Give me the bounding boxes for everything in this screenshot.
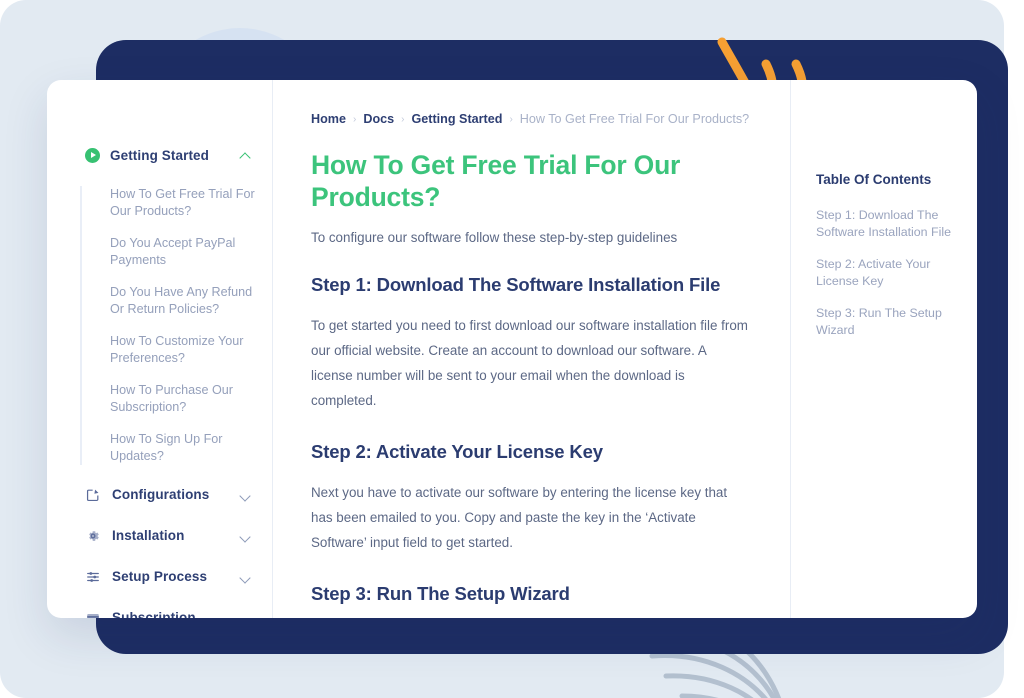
sidebar-item-getting-started[interactable]: Getting Started xyxy=(47,142,272,168)
sidebar-subitem[interactable]: How To Purchase Our Subscription? xyxy=(110,382,272,416)
sidebar-item-setup-process[interactable]: Setup Process xyxy=(47,563,272,590)
toc-item-step-1[interactable]: Step 1: Download The Software Installati… xyxy=(816,207,959,241)
sidebar-subitem[interactable]: Do You Accept PayPal Payments xyxy=(110,235,272,269)
section-heading-step-3: Step 3: Run The Setup Wizard xyxy=(311,583,750,605)
toc-item-step-3[interactable]: Step 3: Run The Setup Wizard xyxy=(816,305,959,339)
section-paragraph: Next you have to activate our software b… xyxy=(311,480,750,555)
sidebar-item-label: Setup Process xyxy=(112,569,228,584)
chevron-down-icon[interactable] xyxy=(240,489,252,501)
chevron-down-icon[interactable] xyxy=(240,530,252,542)
sidebar-item-subscription[interactable]: Subscription xyxy=(47,604,272,618)
sidebar-subitem[interactable]: How To Sign Up For Updates? xyxy=(110,431,272,465)
sidebar-subitem[interactable]: How To Get Free Trial For Our Products? xyxy=(110,186,272,220)
article-intro: To configure our software follow these s… xyxy=(311,230,750,245)
breadcrumb-item-docs[interactable]: Docs xyxy=(363,112,394,126)
sidebar-item-list: Configurations Installation xyxy=(47,481,272,618)
sliders-icon xyxy=(85,569,100,584)
article-content: Home › Docs › Getting Started › How To G… xyxy=(273,80,791,618)
chevron-up-icon[interactable] xyxy=(240,149,252,161)
breadcrumb-separator-icon: › xyxy=(401,114,404,125)
toc-title: Table Of Contents xyxy=(816,172,959,187)
breadcrumb: Home › Docs › Getting Started › How To G… xyxy=(311,112,750,126)
breadcrumb-item-getting-started[interactable]: Getting Started xyxy=(411,112,502,126)
sidebar-item-label: Subscription xyxy=(112,610,228,618)
toc-item-step-2[interactable]: Step 2: Activate Your License Key xyxy=(816,256,959,290)
sidebar-subitem[interactable]: How To Customize Your Preferences? xyxy=(110,333,272,367)
section-heading-step-2: Step 2: Activate Your License Key xyxy=(311,441,750,463)
toc-list: Step 1: Download The Software Installati… xyxy=(816,207,959,339)
sidebar-item-installation[interactable]: Installation xyxy=(47,522,272,549)
sidebar-group-label: Getting Started xyxy=(110,148,230,163)
gear-icon xyxy=(85,528,100,543)
sidebar-subitem[interactable]: Do You Have Any Refund Or Return Policie… xyxy=(110,284,272,318)
breadcrumb-item-home[interactable]: Home xyxy=(311,112,346,126)
breadcrumb-item-current: How To Get Free Trial For Our Products? xyxy=(520,112,749,126)
section-heading-step-1: Step 1: Download The Software Installati… xyxy=(311,274,750,296)
sidebar-sublist: How To Get Free Trial For Our Products? … xyxy=(80,186,272,465)
sidebar-nav: Getting Started How To Get Free Trial Fo… xyxy=(47,80,273,618)
screenshot-root: Getting Started How To Get Free Trial Fo… xyxy=(0,0,1024,698)
breadcrumb-separator-icon: › xyxy=(353,114,356,125)
credit-card-icon xyxy=(85,610,100,618)
play-circle-icon xyxy=(85,148,100,163)
chevron-down-icon[interactable] xyxy=(240,571,252,583)
page-title: How To Get Free Trial For Our Products? xyxy=(311,150,750,214)
sidebar-item-configurations[interactable]: Configurations xyxy=(47,481,272,508)
edit-square-icon xyxy=(85,487,100,502)
sidebar-item-label: Installation xyxy=(112,528,228,543)
table-of-contents: Table Of Contents Step 1: Download The S… xyxy=(791,80,977,618)
breadcrumb-separator-icon: › xyxy=(509,114,512,125)
documentation-card: Getting Started How To Get Free Trial Fo… xyxy=(47,80,977,618)
sidebar-item-label: Configurations xyxy=(112,487,228,502)
section-paragraph: To get started you need to first downloa… xyxy=(311,313,750,413)
chevron-down-icon[interactable] xyxy=(240,612,252,619)
